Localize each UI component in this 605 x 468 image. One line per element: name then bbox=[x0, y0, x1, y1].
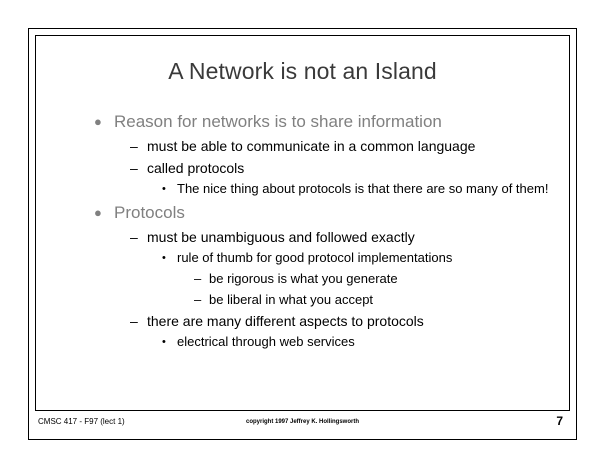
bullet-dot-icon: • bbox=[162, 179, 177, 199]
bullet-level2: – must be unambiguous and followed exact… bbox=[130, 226, 557, 248]
footer-page-number: 7 bbox=[556, 414, 563, 428]
bullet-level2: – must be able to communicate in a commo… bbox=[130, 135, 557, 157]
bullet-dash-icon: – bbox=[130, 135, 147, 157]
bullet-dash-icon: – bbox=[130, 157, 147, 179]
bullet-level4: – be rigorous is what you generate bbox=[194, 268, 557, 289]
bullet-level3: • The nice thing about protocols is that… bbox=[162, 179, 557, 199]
bullet-level1: ● Protocols bbox=[94, 200, 557, 226]
slide-inner-frame: A Network is not an Island ● Reason for … bbox=[35, 35, 570, 411]
bullet-level4: – be liberal in what you accept bbox=[194, 289, 557, 310]
bullet-level2: – there are many different aspects to pr… bbox=[130, 310, 557, 332]
bullet-dash-icon: – bbox=[130, 226, 147, 248]
bullet-text: Reason for networks is to share informat… bbox=[114, 109, 442, 135]
bullet-text: electrical through web services bbox=[177, 332, 355, 352]
bullet-text: called protocols bbox=[147, 157, 244, 179]
slide-title: A Network is not an Island bbox=[36, 58, 569, 85]
bullet-level3: • electrical through web services bbox=[162, 332, 557, 352]
bullet-text: The nice thing about protocols is that t… bbox=[177, 179, 548, 199]
bullet-text: be rigorous is what you generate bbox=[209, 268, 398, 289]
bullet-disc-icon: ● bbox=[94, 109, 114, 135]
bullet-dot-icon: • bbox=[162, 248, 177, 268]
bullet-text: be liberal in what you accept bbox=[209, 289, 373, 310]
bullet-text: must be unambiguous and followed exactly bbox=[147, 226, 415, 248]
bullet-text: must be able to communicate in a common … bbox=[147, 135, 475, 157]
bullet-dot-icon: • bbox=[162, 332, 177, 352]
bullet-level3: • rule of thumb for good protocol implem… bbox=[162, 248, 557, 268]
bullet-dash-icon: – bbox=[194, 268, 209, 289]
bullet-text: rule of thumb for good protocol implemen… bbox=[177, 248, 452, 268]
bullet-disc-icon: ● bbox=[94, 200, 114, 226]
bullet-level2: – called protocols bbox=[130, 157, 557, 179]
bullet-dash-icon: – bbox=[194, 289, 209, 310]
footer-copyright-label: copyright 1997 Jeffrey K. Hollingsworth bbox=[36, 419, 569, 425]
slide-body: ● Reason for networks is to share inform… bbox=[48, 108, 557, 352]
bullet-dash-icon: – bbox=[130, 310, 147, 332]
slide-outer-frame: A Network is not an Island ● Reason for … bbox=[28, 28, 577, 440]
slide-footer: CMSC 417 - F97 (lect 1) copyright 1997 J… bbox=[36, 413, 569, 437]
bullet-level1: ● Reason for networks is to share inform… bbox=[94, 109, 557, 135]
bullet-text: Protocols bbox=[114, 200, 185, 226]
bullet-text: there are many different aspects to prot… bbox=[147, 310, 424, 332]
